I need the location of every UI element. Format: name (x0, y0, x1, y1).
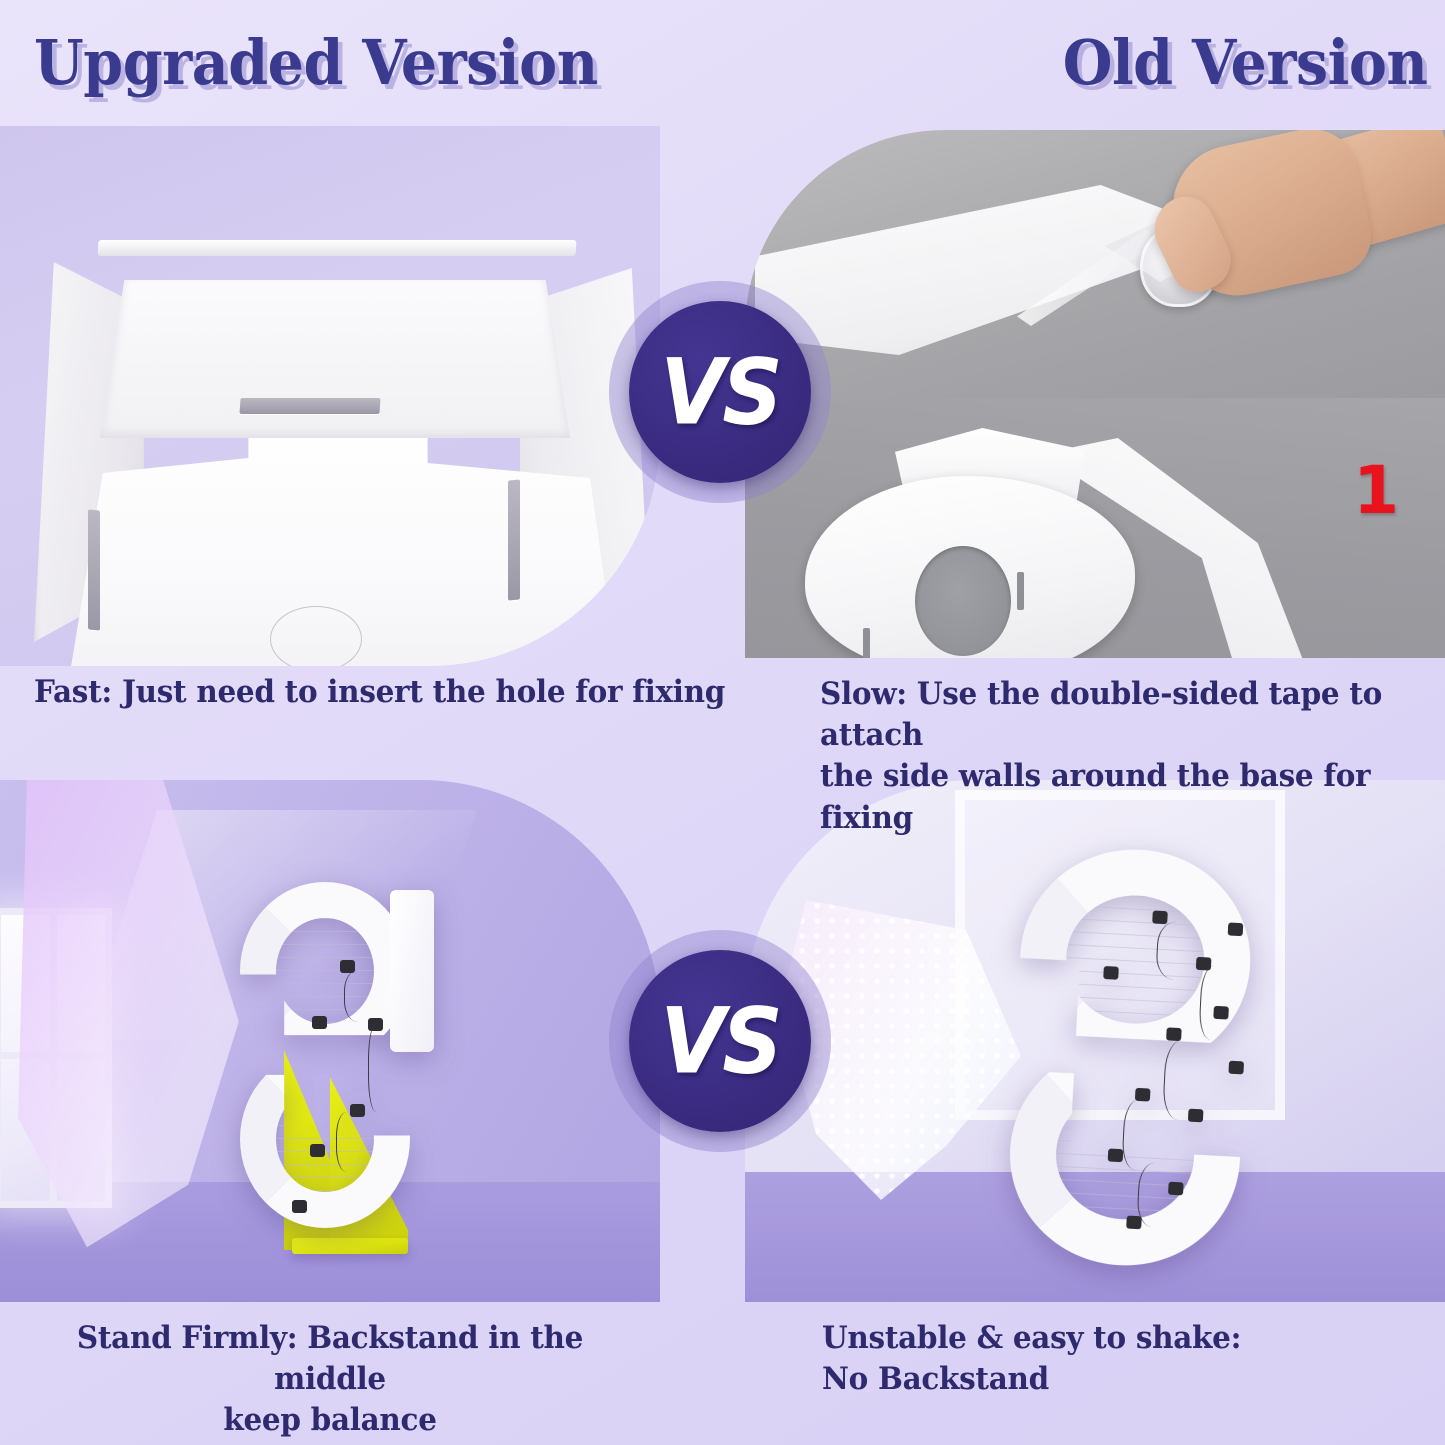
caption-line: keep balance (55, 1400, 606, 1441)
caption-line: Fast: Just need to insert the hole for f… (34, 672, 725, 713)
led-bulb (1103, 966, 1119, 980)
led-bulb (1152, 910, 1168, 924)
light-wire (1198, 965, 1232, 1040)
vs-badge-circle: VS (629, 950, 811, 1132)
caption-upgraded-top: Fast: Just need to insert the hole for f… (34, 672, 725, 713)
photo-foam-parts-layout (745, 398, 1445, 658)
infographic-root: Upgraded Version Old Version (0, 0, 1445, 1445)
caption-old-top: Slow: Use the double-sided tape to attac… (820, 674, 1390, 839)
heading-old-version: Old Version (1062, 26, 1427, 99)
led-bulb (292, 1200, 307, 1213)
light-wire (336, 1112, 362, 1172)
marquee-number-three-stable (240, 882, 430, 1242)
caption-old-bottom: Unstable & easy to shake: No Backstand (822, 1318, 1392, 1400)
box-top-rim (98, 240, 577, 256)
led-bulb (1126, 1216, 1142, 1230)
led-bulb (312, 1016, 327, 1029)
led-bulb (310, 1144, 325, 1157)
number-front-face (390, 890, 434, 1052)
marquee-number-three-unstable (1004, 844, 1276, 1277)
photo-upgraded-box-insert (0, 126, 660, 666)
caption-line: Slow: Use the double-sided tape to attac… (820, 674, 1390, 756)
caption-line: No Backstand (822, 1359, 1392, 1400)
foam-notch-left (863, 628, 870, 658)
vs-label: VS (660, 339, 780, 445)
insert-slot-right (508, 479, 520, 600)
led-bulb (1108, 1148, 1124, 1162)
insert-slot-top (239, 398, 380, 414)
insert-slot-left (88, 509, 100, 630)
step-number-1: 1 (1353, 452, 1399, 529)
light-wire (1155, 921, 1204, 981)
caption-line: Stand Firmly: Backstand in the middle (55, 1318, 606, 1400)
vs-label: VS (660, 988, 780, 1094)
light-wire (344, 970, 378, 1022)
vs-badge-bottom: VS (609, 930, 831, 1152)
led-bulb (1228, 1061, 1244, 1075)
led-bulb (1228, 922, 1244, 936)
vs-badge-top: VS (609, 281, 831, 503)
heading-upgraded-version: Upgraded Version (34, 26, 598, 99)
caption-line: Unstable & easy to shake: (822, 1318, 1392, 1359)
light-wire (1136, 1162, 1177, 1228)
base-hole-outline (270, 606, 362, 666)
number-top-arc (1015, 844, 1256, 1076)
caption-upgraded-bottom: Stand Firmly: Backstand in the middle ke… (55, 1318, 606, 1442)
photo-upgraded-stable-number (0, 780, 660, 1302)
light-wire (368, 1024, 388, 1112)
photo-old-unstable-number (745, 780, 1445, 1302)
caption-line: the side walls around the base for fixin… (820, 756, 1390, 838)
foam-center-hole (915, 546, 1011, 656)
vs-badge-circle: VS (629, 301, 811, 483)
white-box-illustration (40, 238, 640, 666)
photo-old-tape-method: 1 2 (745, 130, 1445, 658)
photo-hand-applying-tape (745, 130, 1445, 398)
box-back-wall (100, 280, 570, 438)
foam-notch-right (1017, 572, 1024, 610)
led-bulb (1166, 1027, 1182, 1041)
